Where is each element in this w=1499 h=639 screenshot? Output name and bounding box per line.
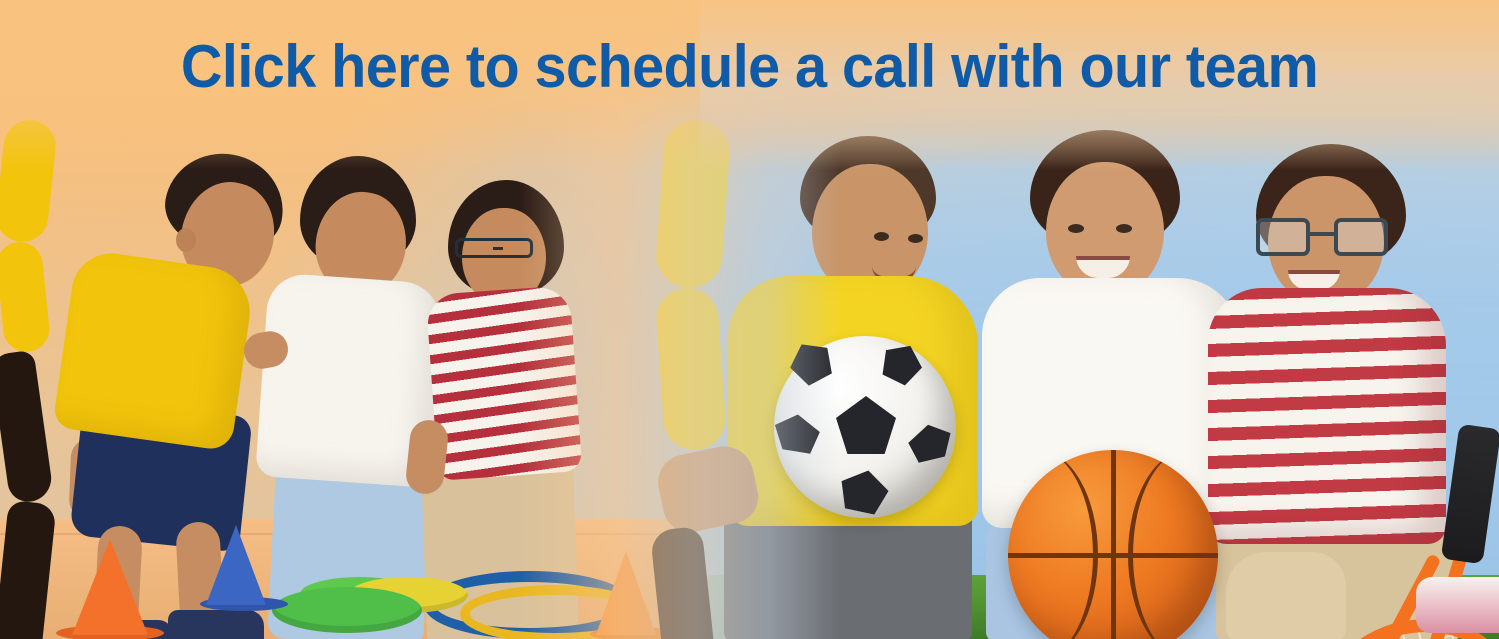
soccer-ball xyxy=(774,336,956,518)
promo-banner: Click here to schedule a call with our t… xyxy=(0,0,1499,639)
obstacle-course-photo xyxy=(0,120,680,639)
racket-grip xyxy=(1441,424,1499,565)
balance-disc-green xyxy=(272,587,422,633)
eye-left xyxy=(1068,224,1084,233)
arm-left xyxy=(0,118,58,245)
pigtail-left xyxy=(0,350,54,505)
tshirt-striped xyxy=(426,285,583,481)
eye-right xyxy=(1116,224,1132,233)
tshirt-yellow xyxy=(52,248,255,451)
eye-right xyxy=(908,234,923,243)
eye-left xyxy=(874,232,889,241)
shoe-right xyxy=(168,610,264,639)
arm-right xyxy=(654,286,727,452)
sports-kids-photo xyxy=(660,120,1499,639)
arm-right xyxy=(0,240,52,354)
eyeglasses-icon xyxy=(1256,218,1388,256)
shoe-pink xyxy=(1416,577,1499,633)
arm-left xyxy=(654,118,732,290)
basketball xyxy=(1008,450,1218,639)
schedule-call-headline[interactable]: Click here to schedule a call with our t… xyxy=(30,30,1469,104)
eyeglasses-icon xyxy=(455,238,533,258)
ear xyxy=(176,228,196,252)
